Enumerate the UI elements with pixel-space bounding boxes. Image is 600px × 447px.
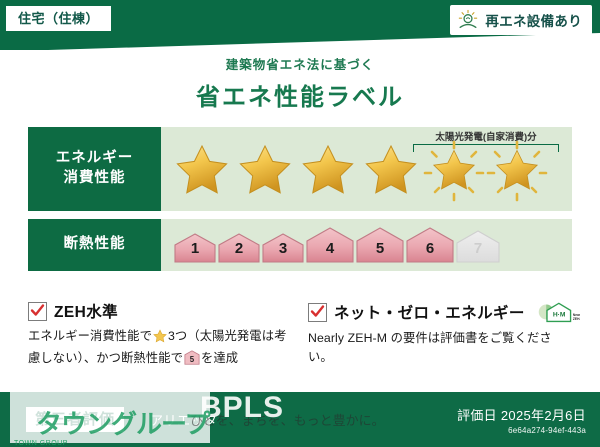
certification-info: ZEH水準 エネルギー消費性能で 3つ（太陽光発電は考慮しない）、かつ断熱性能で… bbox=[28, 300, 573, 371]
star-icon bbox=[171, 140, 233, 202]
insulation-level-number: 6 bbox=[405, 240, 455, 257]
star-icon-solar bbox=[486, 140, 548, 202]
zeh-checkbox[interactable] bbox=[28, 302, 47, 321]
insulation-level-number: 1 bbox=[173, 240, 217, 257]
zeh-description: エネルギー消費性能で 3つ（太陽光発電は考慮しない）、かつ断熱性能で 5 を達成 bbox=[28, 327, 290, 371]
insulation-row-body: 1234567 bbox=[161, 219, 572, 271]
evaluation-date: 評価日 2025年2月6日 bbox=[457, 405, 586, 424]
energy-performance-label: 住宅（住棟） 再エネ設備あり 建築物省エネ法に基づく 省エネ性能ラベル bbox=[0, 0, 600, 447]
zeh-desc-part3: を達成 bbox=[201, 351, 238, 365]
nzeb-heading: ネット・ゼロ・エネルギー H·M Nearly ZEH-M bbox=[308, 300, 570, 324]
insulation-level-number: 5 bbox=[355, 240, 405, 257]
star-icon bbox=[297, 140, 359, 202]
check-icon bbox=[30, 303, 45, 318]
heading-title: 省エネ性能ラベル bbox=[0, 77, 600, 112]
star-icon bbox=[360, 140, 422, 202]
insulation-performance-row: 断熱性能 1234567 bbox=[28, 219, 572, 271]
check-icon bbox=[310, 304, 325, 319]
evaluation-date-label: 評価日 bbox=[457, 408, 497, 423]
evaluation-meta: 評価日 2025年2月6日 6e64a274-94ef-443a bbox=[457, 405, 586, 435]
insulation-level-5: 5 bbox=[355, 227, 405, 263]
star-icon-solar bbox=[423, 140, 485, 202]
zeh-heading: ZEH水準 bbox=[28, 300, 290, 322]
insulation-level-scale: 1234567 bbox=[161, 227, 501, 263]
nzeb-title: ネット・ゼロ・エネルギー bbox=[334, 301, 525, 323]
rating-rows: エネルギー 消費性能 太陽光発電(自家消費)分 断熱性能 1234567 bbox=[28, 127, 572, 279]
zeh-m-house-logo: H·M Nearly ZEH-M bbox=[536, 300, 580, 324]
heading-subtitle: 建築物省エネ法に基づく bbox=[0, 54, 600, 73]
zeh-desc-part1: エネルギー消費性能で bbox=[28, 329, 152, 343]
nzeb-checkbox[interactable] bbox=[308, 303, 327, 322]
building-name: アリエッタ bbox=[150, 410, 218, 429]
insulation-level-number: 2 bbox=[217, 240, 261, 257]
insulation-house-icon: 5 bbox=[184, 350, 200, 371]
svg-text:5: 5 bbox=[190, 355, 195, 364]
svg-text:ZEH-M: ZEH-M bbox=[573, 317, 580, 321]
insulation-level-1: 1 bbox=[173, 233, 217, 263]
energy-row-label: エネルギー 消費性能 bbox=[28, 127, 161, 211]
star-icon bbox=[153, 329, 167, 349]
energy-label-line2: 消費性能 bbox=[64, 169, 126, 189]
evaluation-date-value: 2025年2月6日 bbox=[501, 408, 586, 423]
insulation-level-6: 6 bbox=[405, 227, 455, 263]
renewable-equipment-badge: 再エネ設備あり bbox=[450, 5, 592, 35]
insulation-level-7: 7 bbox=[455, 230, 501, 263]
insulation-level-2: 2 bbox=[217, 233, 261, 263]
insulation-label-text: 断熱性能 bbox=[64, 235, 126, 255]
net-zero-energy-block: ネット・ゼロ・エネルギー H·M Nearly ZEH-M Nearly ZEH… bbox=[308, 300, 570, 371]
insulation-level-number: 7 bbox=[455, 240, 501, 257]
evaluation-id: 6e64a274-94ef-443a bbox=[457, 426, 586, 435]
label-heading: 建築物省エネ法に基づく 省エネ性能ラベル bbox=[0, 54, 600, 112]
insulation-level-number: 3 bbox=[261, 240, 305, 257]
insulation-level-4: 4 bbox=[305, 227, 355, 263]
sun-icon bbox=[457, 9, 479, 31]
insulation-row-label: 断熱性能 bbox=[28, 219, 161, 271]
energy-star-rating bbox=[161, 140, 548, 202]
svg-text:H·M: H·M bbox=[553, 312, 566, 319]
energy-performance-row: エネルギー 消費性能 太陽光発電(自家消費)分 bbox=[28, 127, 572, 211]
renewable-badge-label: 再エネ設備あり bbox=[485, 10, 582, 30]
star-icon bbox=[234, 140, 296, 202]
third-party-evaluation-tag: 第三者評価 bbox=[26, 407, 124, 432]
insulation-level-3: 3 bbox=[261, 233, 305, 263]
nzeb-description: Nearly ZEH-M の要件は評価書をご覧ください。 bbox=[308, 329, 570, 367]
energy-row-body: 太陽光発電(自家消費)分 bbox=[161, 127, 572, 211]
building-type-tag: 住宅（住棟） bbox=[6, 6, 111, 31]
zeh-title: ZEH水準 bbox=[54, 300, 118, 322]
insulation-level-number: 4 bbox=[305, 240, 355, 257]
energy-label-line1: エネルギー bbox=[56, 149, 134, 169]
zeh-standard-block: ZEH水準 エネルギー消費性能で 3つ（太陽光発電は考慮しない）、かつ断熱性能で… bbox=[28, 300, 290, 371]
label-footer: 第三者評価 アリエッタ 評価日 2025年2月6日 6e64a274-94ef-… bbox=[0, 392, 600, 447]
